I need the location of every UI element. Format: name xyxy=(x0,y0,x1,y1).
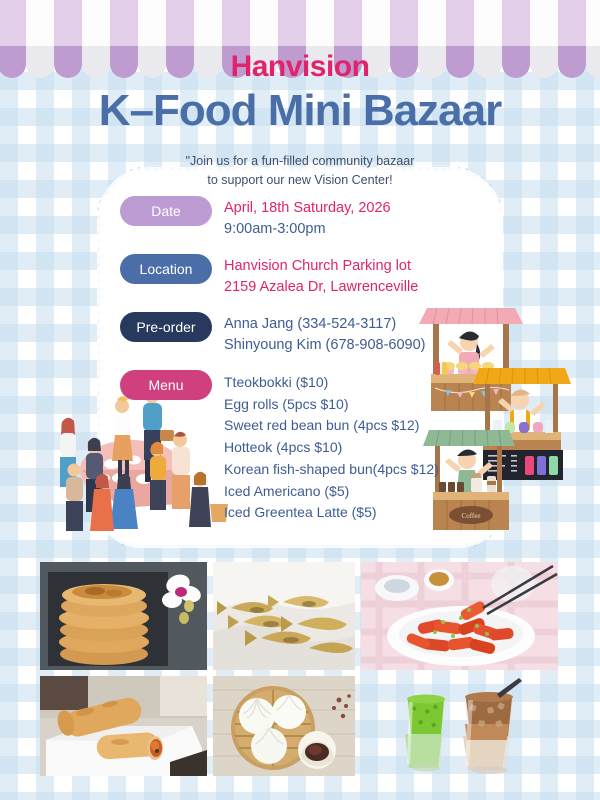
photo-iced-drinks xyxy=(361,676,558,776)
menu-item: Iced Americano ($5) xyxy=(224,481,439,503)
label-pill-preorder: Pre-order xyxy=(120,312,212,342)
info-row-preorder: Pre-order Anna Jang (334-524-3117) Shiny… xyxy=(120,312,480,356)
venue-address: 2159 Azalea Dr, Lawrenceville xyxy=(224,277,418,298)
menu-item: Hotteok (4pcs $10) xyxy=(224,437,439,459)
photo-grid xyxy=(40,562,560,777)
greentea-latte-glass xyxy=(405,695,445,772)
info-values-date: April, 18th Saturday, 2026 9:00am-3:00pm xyxy=(224,196,391,240)
venue-name: Hanvision Church Parking lot xyxy=(224,256,418,277)
brand-name: Hanvision xyxy=(0,52,600,82)
flyer-header: Hanvision K–Food Mini Bazaar xyxy=(0,0,600,134)
menu-item: Egg rolls (5pcs $10) xyxy=(224,394,439,416)
tagline: "Join us for a fun-filled community baza… xyxy=(0,152,600,190)
info-block: Date April, 18th Saturday, 2026 9:00am-3… xyxy=(120,196,480,538)
time-value: 9:00am-3:00pm xyxy=(224,219,391,240)
photo-red-bean-buns xyxy=(213,676,355,776)
date-value: April, 18th Saturday, 2026 xyxy=(224,198,391,219)
contact-2[interactable]: Shinyoung Kim (678-908-6090) xyxy=(224,335,426,356)
menu-item: Tteokbokki ($10) xyxy=(224,372,439,394)
photo-hotteok xyxy=(40,562,207,670)
iced-americano-glass xyxy=(463,678,522,774)
label-pill-menu: Menu xyxy=(120,370,212,400)
info-row-date: Date April, 18th Saturday, 2026 9:00am-3… xyxy=(120,196,480,240)
menu-item: Sweet red bean bun (4pcs $12) xyxy=(224,415,439,437)
tagline-line-1: "Join us for a fun-filled community baza… xyxy=(0,152,600,171)
contact-1[interactable]: Anna Jang (334-524-3117) xyxy=(224,314,426,335)
menu-item: Korean fish-shaped bun(4pcs $12) xyxy=(224,459,439,481)
info-values-location: Hanvision Church Parking lot 2159 Azalea… xyxy=(224,254,418,298)
label-pill-location: Location xyxy=(120,254,212,284)
photo-egg-rolls xyxy=(40,676,207,776)
info-values-preorder: Anna Jang (334-524-3117) Shinyoung Kim (… xyxy=(224,312,426,356)
photo-tteokbokki xyxy=(361,562,558,670)
label-pill-date: Date xyxy=(120,196,212,226)
photo-fish-shaped-bun xyxy=(213,562,355,670)
info-row-location: Location Hanvision Church Parking lot 21… xyxy=(120,254,480,298)
tagline-line-2: to support our new Vision Center! xyxy=(0,171,600,190)
page-title: K–Food Mini Bazaar xyxy=(0,88,600,134)
menu-item: Iced Greentea Latte ($5) xyxy=(224,502,439,524)
menu-list: Tteokbokki ($10) Egg rolls (5pcs $10) Sw… xyxy=(224,370,439,524)
info-row-menu: Menu Tteokbokki ($10) Egg rolls (5pcs $1… xyxy=(120,370,480,524)
